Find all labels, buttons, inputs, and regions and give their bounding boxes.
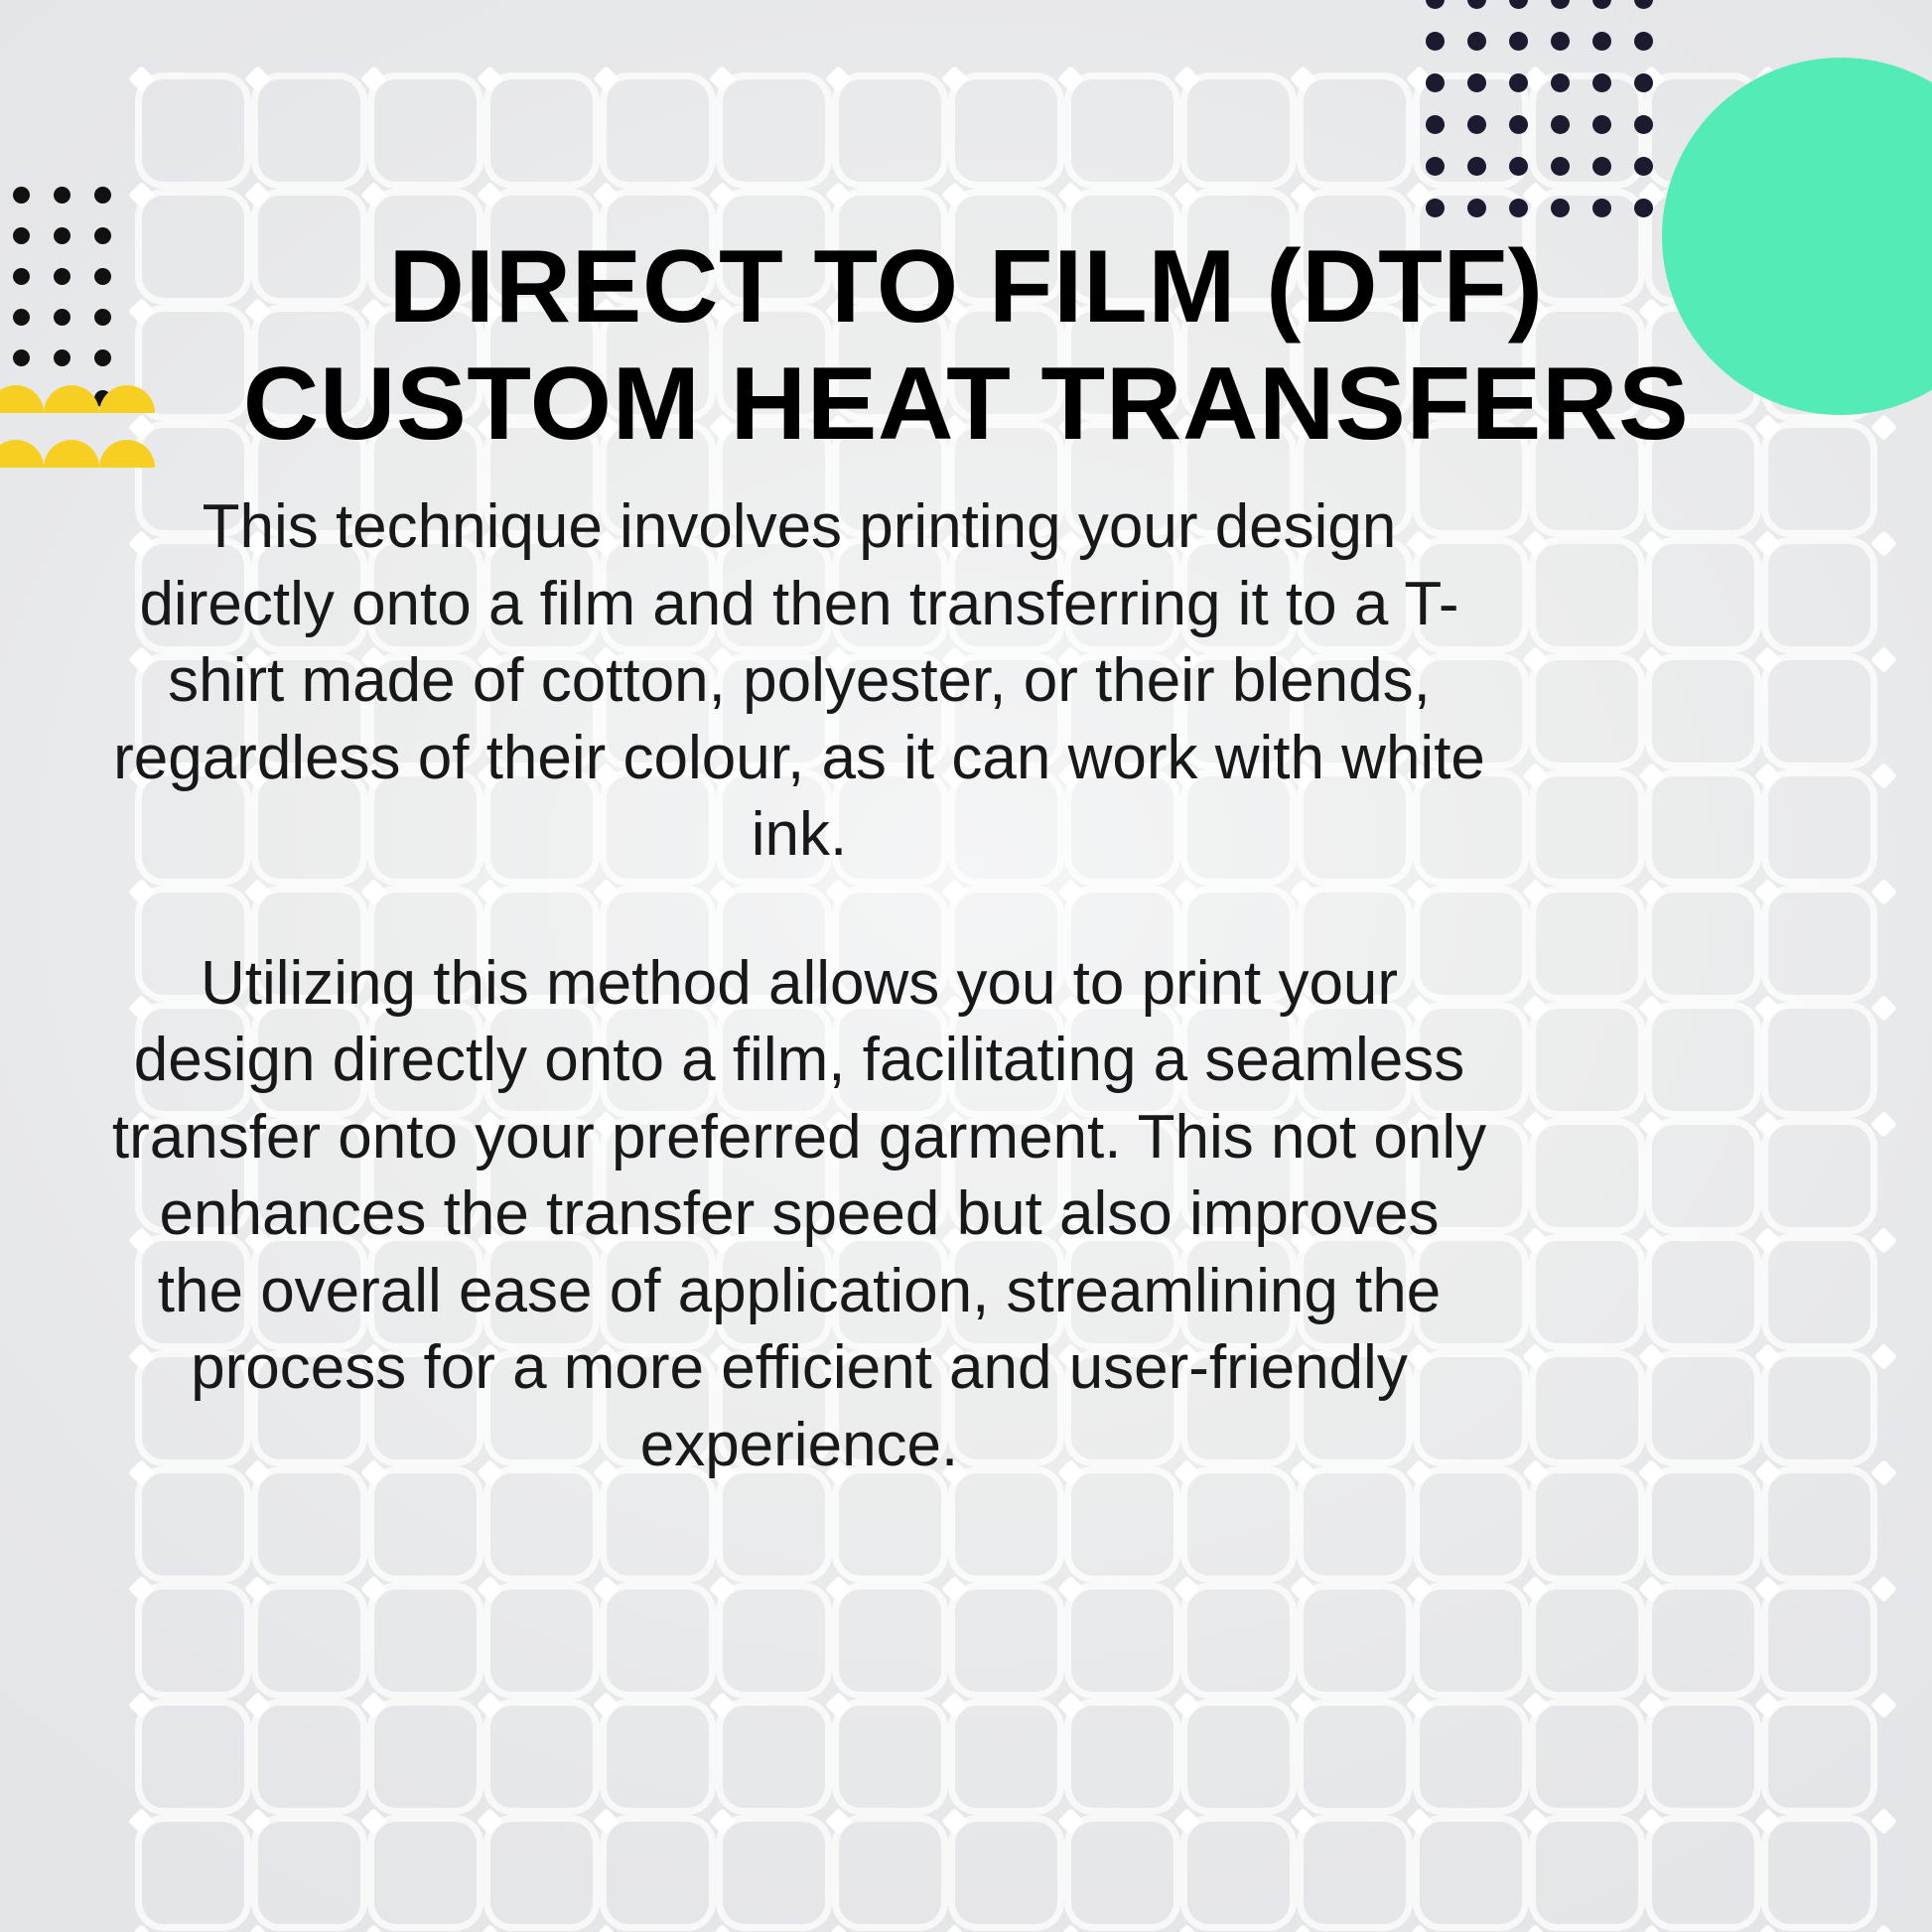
poster-canvas: DIRECT TO FILM (DTF) CUSTOM HEAT TRANSFE… [0,0,1932,1932]
page-title: DIRECT TO FILM (DTF) CUSTOM HEAT TRANSFE… [143,228,1790,464]
body-paragraph-1: This technique involves printing your de… [109,488,1489,874]
page-title-line-2: CUSTOM HEAT TRANSFERS [143,345,1790,464]
poster-content: DIRECT TO FILM (DTF) CUSTOM HEAT TRANSFE… [0,0,1932,1932]
body-copy: This technique involves printing your de… [109,488,1489,1483]
page-title-line-1: DIRECT TO FILM (DTF) [143,228,1790,346]
body-paragraph-2: Utilizing this method allows you to prin… [109,945,1489,1484]
